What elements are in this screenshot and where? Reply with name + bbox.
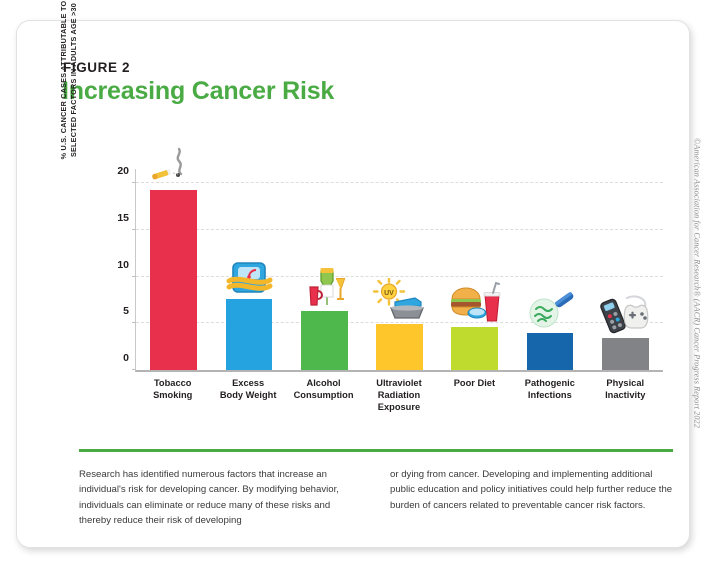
- bar-slot: UV: [362, 169, 437, 370]
- bar-slot: [588, 169, 663, 370]
- bar[interactable]: UV: [376, 324, 423, 370]
- bar-chart: % U.S. CANCER CASES ATTRIBUTABLE TO SELE…: [63, 139, 663, 429]
- figure-card: FIGURE 2 Increasing Cancer Risk % U.S. C…: [16, 20, 690, 548]
- y-tick-label: 20: [117, 165, 129, 177]
- y-axis-label: % U.S. CANCER CASES ATTRIBUTABLE TO SELE…: [59, 0, 83, 189]
- bacteria-virus-icon: [522, 287, 578, 331]
- caption-column-2: or dying from cancer. Developing and imp…: [390, 467, 673, 529]
- x-axis-label: Pathogenic Infections: [512, 377, 587, 413]
- x-axis-label: Excess Body Weight: [210, 377, 285, 413]
- y-tick-label: 15: [117, 212, 129, 224]
- bar[interactable]: [602, 338, 649, 370]
- bar-slot: [437, 169, 512, 370]
- svg-text:UV: UV: [385, 290, 395, 297]
- caption-block: Research has identified numerous factors…: [79, 467, 673, 529]
- section-divider: [79, 449, 673, 452]
- bar[interactable]: [451, 327, 498, 370]
- bar[interactable]: [527, 333, 574, 370]
- x-axis-label: Tobacco Smoking: [135, 377, 210, 413]
- cigarette-smoke-icon: [146, 144, 202, 188]
- bar-slot: [211, 169, 286, 370]
- figure-title: Increasing Cancer Risk: [62, 77, 334, 106]
- bar[interactable]: [301, 311, 348, 370]
- tv-remote-gamepad-icon: [597, 292, 653, 336]
- caption-column-1: Research has identified numerous factors…: [79, 467, 362, 529]
- y-tick-label: 0: [123, 352, 129, 364]
- plot-area: 05101520: [135, 169, 663, 372]
- uv-sun-sunscreen-icon: UV: [371, 278, 427, 322]
- bar[interactable]: [150, 190, 197, 370]
- bar-slot: [512, 169, 587, 370]
- page-root: FIGURE 2 Increasing Cancer Risk % U.S. C…: [0, 0, 720, 567]
- x-axis-label: Physical Inactivity: [588, 377, 663, 413]
- bar[interactable]: [226, 299, 273, 370]
- copyright-credit: ©American Association for Cancer Researc…: [693, 73, 702, 493]
- bars-group: UV: [136, 169, 663, 370]
- bar-slot: [136, 169, 211, 370]
- weight-scale-icon: [221, 253, 277, 297]
- x-axis-label: Alcohol Consumption: [286, 377, 361, 413]
- y-tick-label: 5: [123, 305, 129, 317]
- alcohol-drinks-icon: [296, 265, 352, 309]
- fast-food-icon: [447, 281, 503, 325]
- x-axis-label: Ultraviolet Radiation Exposure: [361, 377, 436, 413]
- y-tick-label: 10: [117, 259, 129, 271]
- x-axis-labels: Tobacco SmokingExcess Body WeightAlcohol…: [135, 377, 663, 413]
- x-axis-label: Poor Diet: [437, 377, 512, 413]
- bar-slot: [287, 169, 362, 370]
